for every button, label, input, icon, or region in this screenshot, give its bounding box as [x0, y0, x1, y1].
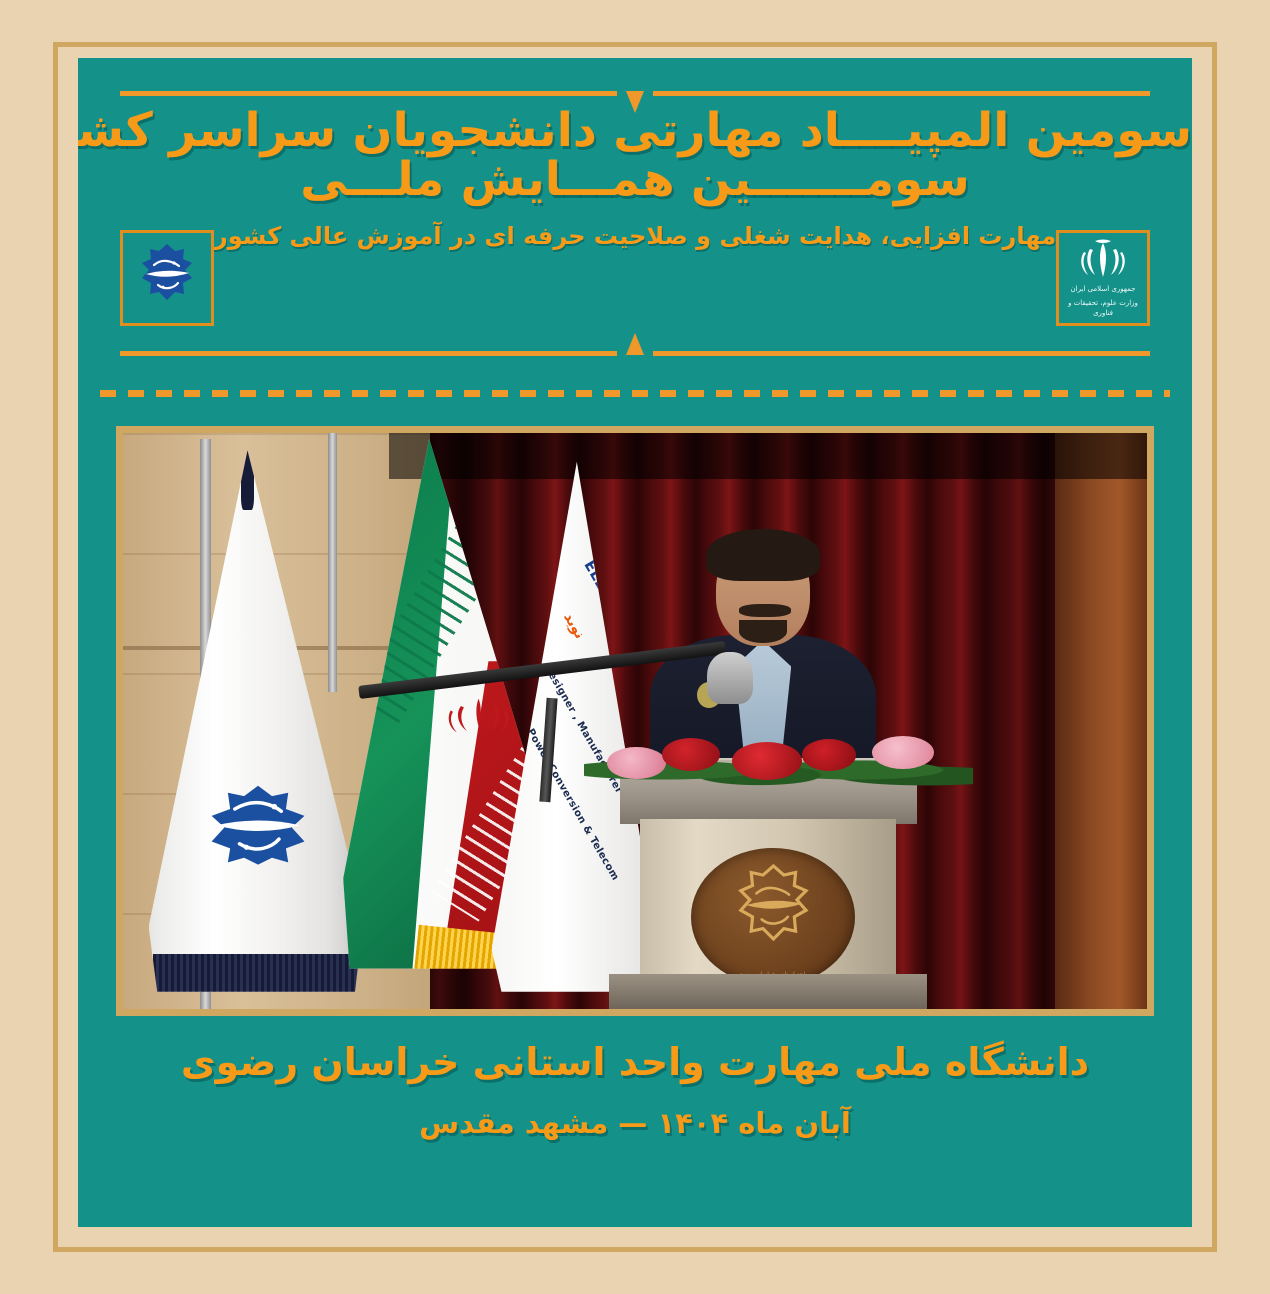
podium-seal: واحد استانی خراسان رضوی [691, 848, 855, 986]
page-subtitle: مهارت افزایی، هدایت شغلی و صلاحیت حرفه ا… [78, 222, 1192, 250]
photo-ceiling-shadow [389, 433, 1147, 479]
top-divider [102, 80, 1168, 106]
ministry-line-2: وزارت علوم، تحقیقات و فناوری [1059, 298, 1147, 320]
microphone-head-icon [707, 652, 753, 704]
flower-arrangement [584, 721, 973, 790]
rose-red-3 [802, 739, 856, 771]
dashed-separator [100, 390, 1170, 397]
bottom-divider [102, 340, 1168, 366]
flagpole-2 [328, 433, 337, 692]
skill-university-emblem-icon [134, 242, 200, 314]
speaker-beard [739, 620, 786, 643]
podium-base [609, 974, 926, 1009]
rose-pink-1 [607, 747, 665, 779]
title-block: سومین المپیــــاد مهارتی دانشجویان سراسر… [78, 106, 1192, 250]
speaker-hair [706, 529, 819, 581]
iran-national-emblem-icon [1075, 237, 1131, 281]
divider-segment-left-2 [120, 351, 617, 356]
rose-red-2 [732, 742, 802, 780]
page-title-line-2: سومـــــــین همـــایش ملـــی [78, 155, 1192, 206]
sponsor-line-2: نوید [560, 610, 588, 642]
poster-stage: سومین المپیــــاد مهارتی دانشجویان سراسر… [78, 58, 1192, 1227]
flag-fringe-navy [153, 954, 359, 992]
podium-emblem-icon [721, 862, 826, 956]
divider-segment-right [653, 91, 1150, 96]
page-title-line-1: سومین المپیــــاد مهارتی دانشجویان سراسر… [78, 106, 1192, 157]
divider-segment-left [120, 91, 617, 96]
logo-ministry-of-science: جمهوری اسلامی ایران وزارت علوم، تحقیقات … [1056, 230, 1150, 326]
footer-block: دانشگاه ملی مهارت واحد استانی خراسان رضو… [78, 1040, 1192, 1140]
ministry-line-1: جمهوری اسلامی ایران [1071, 284, 1136, 295]
organizer-name: دانشگاه ملی مهارت واحد استانی خراسان رضو… [78, 1040, 1192, 1084]
logo-skill-university [120, 230, 214, 326]
rose-red-1 [662, 738, 720, 771]
event-photo: ELECTRONIC نوید Designer , Manufacturer … [123, 433, 1147, 1009]
photo-wood-panel-right [1055, 433, 1147, 1009]
flag-university-emblem-icon [200, 732, 316, 916]
divider-segment-right-2 [653, 351, 1150, 356]
ministry-logo-stack: جمهوری اسلامی ایران وزارت علوم، تحقیقات … [1059, 233, 1147, 323]
speaker-moustache [739, 604, 791, 617]
poster-root: سومین المپیــــاد مهارتی دانشجویان سراسر… [0, 0, 1270, 1294]
triangle-down-icon [626, 91, 644, 113]
triangle-up-icon [626, 333, 644, 355]
event-photo-frame: ELECTRONIC نوید Designer , Manufacturer … [116, 426, 1154, 1016]
event-date-location: آبان ماه ۱۴۰۴ — مشهد مقدس [78, 1106, 1192, 1140]
